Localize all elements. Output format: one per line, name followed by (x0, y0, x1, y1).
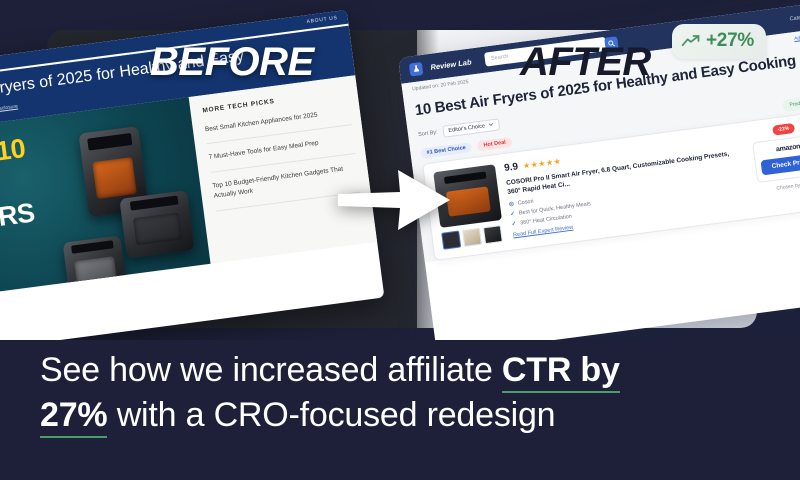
badge-products-updated: Products up... (782, 94, 800, 112)
arrow-right-icon (338, 168, 450, 232)
retailer-box: amazon Check Price (752, 133, 800, 183)
badge-hot-deal: Hot Deal (477, 137, 512, 151)
product-thumbnails (441, 225, 505, 250)
before-hero: P 10 ERS (0, 97, 210, 294)
brand-icon: ◎ (509, 201, 515, 208)
check-icon: ✓ (510, 211, 515, 218)
check-icon: ✓ (511, 221, 516, 228)
product-buy-column: -22% amazon Check Price Chosen by M... (750, 121, 800, 207)
after-label: AFTER (520, 40, 651, 85)
flask-icon (409, 61, 424, 76)
product-thumbnail[interactable] (441, 231, 461, 250)
retailer-logo: amazon (759, 141, 800, 156)
sort-select[interactable]: Editor's Choice (442, 118, 501, 137)
metric-badge: +27% (672, 24, 766, 59)
caption: See how we increased affiliate CTR by 27… (40, 348, 760, 438)
sort-label: Sort By: (418, 129, 438, 138)
before-product-image-3 (63, 235, 128, 294)
product-feature-label: 360° Heat Circulation (520, 214, 572, 227)
caption-highlight-27: 27% (40, 396, 107, 438)
metric-badge-value: +27% (706, 30, 754, 52)
badge-best-choice: #1 Best Choice (420, 142, 472, 159)
product-thumbnail[interactable] (483, 225, 503, 244)
after-advertising-link[interactable]: Advertising (794, 33, 800, 42)
before-nav-about-us[interactable]: ABOUT US (306, 15, 338, 25)
before-label: BEFORE (150, 40, 314, 85)
comparison-stage: ABOUT US Air Fryers of 2025 for Healthy … (0, 0, 800, 340)
product-brand: Cosori (517, 198, 534, 206)
product-score: 9.9 (504, 161, 519, 174)
star-rating-icon: ★★★★★ (522, 157, 561, 171)
check-price-button[interactable]: Check Price (760, 153, 800, 175)
search-placeholder: Search (485, 54, 509, 63)
product-thumbnail[interactable] (462, 228, 482, 247)
caption-highlight-ctr: CTR by (502, 351, 620, 393)
before-product-image-2 (119, 190, 194, 258)
after-nav-categories[interactable]: Categories (789, 13, 800, 22)
sort-value: Editor's Choice (448, 123, 485, 134)
badge-rank: #1 (426, 149, 433, 156)
discount-badge: -22% (772, 123, 795, 136)
caption-line1-plain: See how we increased affiliate (40, 351, 502, 389)
chevron-down-icon (489, 122, 495, 129)
caption-line2-plain: with a CRO-focused redesign (107, 396, 555, 434)
product-info: 9.9 ★★★★★ COSORI Pro II Smart Air Fryer,… (504, 132, 752, 241)
badge-best-choice-label: Best Choice (434, 145, 466, 155)
trending-up-icon (681, 34, 701, 48)
after-brand-name: Review Lab (430, 57, 472, 71)
